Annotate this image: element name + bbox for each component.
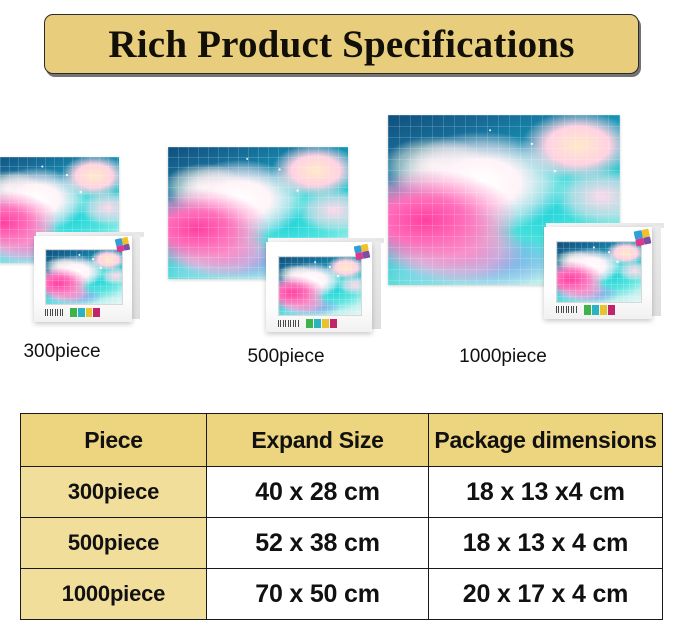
- brand-logo-icon: [70, 308, 100, 317]
- barcode-icon: [556, 306, 578, 313]
- puzzle-box-300piece: [30, 232, 150, 326]
- specification-table: Piece Expand Size Package dimensions 300…: [20, 413, 663, 620]
- product-group-1000piece: 1000piece: [388, 95, 668, 345]
- column-header-expand-size: Expand Size: [207, 414, 429, 467]
- page-title: Rich Product Specifications: [108, 22, 574, 67]
- box-cover-artwork: [278, 256, 362, 316]
- box-cover-artwork: [45, 249, 123, 305]
- product-label-500piece: 500piece: [196, 346, 376, 368]
- cloudscape-art: [557, 242, 641, 302]
- cell-expand-size: 40 x 28 cm: [207, 467, 429, 518]
- table-row: 1000piece 70 x 50 cm 20 x 17 x 4 cm: [21, 569, 663, 620]
- cell-package-dimensions: 20 x 17 x 4 cm: [429, 569, 663, 620]
- table-header-row: Piece Expand Size Package dimensions: [21, 414, 663, 467]
- cell-piece: 1000piece: [21, 569, 207, 620]
- cell-piece: 300piece: [21, 467, 207, 518]
- barcode-icon: [278, 320, 300, 327]
- column-header-package-dimensions: Package dimensions: [429, 414, 663, 467]
- puzzle-piece-badge-icon: [634, 229, 652, 247]
- product-group-300piece: 300piece: [0, 95, 162, 345]
- brand-logo-icon: [584, 305, 616, 315]
- product-showcase: 300piece: [0, 95, 679, 375]
- puzzle-box-500piece: [262, 238, 392, 336]
- puzzle-box-1000piece: [540, 223, 672, 323]
- cell-package-dimensions: 18 x 13 x 4 cm: [429, 518, 663, 569]
- box-cover-artwork: [556, 241, 642, 303]
- barcode-icon: [45, 309, 65, 316]
- product-label-1000piece: 1000piece: [378, 346, 628, 368]
- column-header-piece: Piece: [21, 414, 207, 467]
- page-title-banner: Rich Product Specifications: [44, 14, 639, 74]
- puzzle-piece-badge-icon: [115, 237, 130, 252]
- product-label-300piece: 300piece: [0, 341, 142, 363]
- table-row: 500piece 52 x 38 cm 18 x 13 x 4 cm: [21, 518, 663, 569]
- cell-expand-size: 52 x 38 cm: [207, 518, 429, 569]
- cloudscape-art: [279, 257, 361, 315]
- cell-package-dimensions: 18 x 13 x4 cm: [429, 467, 663, 518]
- product-group-500piece: 500piece: [168, 95, 398, 345]
- puzzle-piece-badge-icon: [354, 244, 371, 261]
- brand-logo-icon: [306, 319, 338, 328]
- cell-piece: 500piece: [21, 518, 207, 569]
- cloudscape-art: [46, 250, 122, 304]
- cell-expand-size: 70 x 50 cm: [207, 569, 429, 620]
- table-row: 300piece 40 x 28 cm 18 x 13 x4 cm: [21, 467, 663, 518]
